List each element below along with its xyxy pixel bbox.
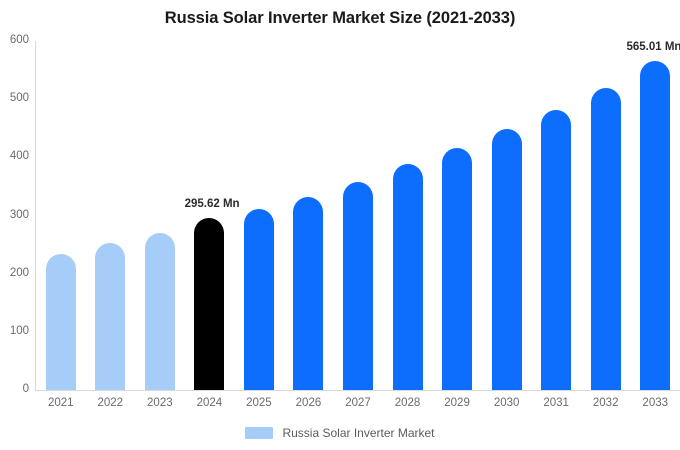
legend-swatch-icon: [245, 427, 273, 439]
bar-slot-2033: 565.01 Mn: [630, 41, 680, 390]
chart-legend: Russia Solar Inverter Market: [0, 426, 680, 440]
bar-slot-2029: [432, 41, 482, 390]
bar-2022[interactable]: [95, 243, 125, 390]
bar-value-label-2024: 295.62 Mn: [185, 199, 235, 211]
x-axis-tick-2023: 2023: [135, 398, 185, 410]
x-axis-line: [35, 390, 680, 391]
bar-2030[interactable]: [492, 129, 522, 390]
bar-chart: Russia Solar Inverter Market Size (2021-…: [0, 0, 680, 450]
bar-slot-2032: [581, 41, 631, 390]
y-axis-tick-300: 300: [0, 210, 29, 222]
y-axis-tick-labels: 0100200300400500600: [0, 0, 32, 450]
x-axis-tick-2026: 2026: [284, 398, 334, 410]
bars-container: 295.62 Mn565.01 Mn: [36, 41, 680, 390]
x-axis-tick-2025: 2025: [234, 398, 284, 410]
bar-2033[interactable]: [640, 61, 670, 390]
bar-2027[interactable]: [343, 182, 373, 390]
y-axis-tick-500: 500: [0, 93, 29, 105]
bar-slot-2027: [333, 41, 383, 390]
y-axis-tick-100: 100: [0, 326, 29, 338]
bar-slot-2026: [284, 41, 334, 390]
bar-slot-2031: [531, 41, 581, 390]
bar-2031[interactable]: [541, 110, 571, 390]
x-axis-tick-2024: 2024: [185, 398, 235, 410]
bar-value-label-2033: 565.01 Mn: [626, 42, 676, 54]
x-axis-tick-2027: 2027: [333, 398, 383, 410]
x-axis-tick-2021: 2021: [36, 398, 86, 410]
x-axis-tick-2033: 2033: [630, 398, 680, 410]
y-axis-tick-400: 400: [0, 151, 29, 163]
bar-slot-2025: [234, 41, 284, 390]
bar-2025[interactable]: [244, 209, 274, 390]
bar-2032[interactable]: [591, 88, 621, 390]
x-axis-tick-2029: 2029: [432, 398, 482, 410]
x-axis-tick-2032: 2032: [581, 398, 631, 410]
x-axis-tick-2022: 2022: [86, 398, 136, 410]
x-axis-tick-2030: 2030: [482, 398, 532, 410]
bar-2023[interactable]: [145, 233, 175, 390]
y-axis-tick-200: 200: [0, 268, 29, 280]
y-axis-tick-600: 600: [0, 35, 29, 47]
legend-label: Russia Solar Inverter Market: [282, 426, 434, 440]
bar-2024[interactable]: [194, 218, 224, 390]
bar-2028[interactable]: [393, 164, 423, 390]
bar-slot-2024: 295.62 Mn: [185, 41, 235, 390]
bar-slot-2028: [383, 41, 433, 390]
page-title: Russia Solar Inverter Market Size (2021-…: [0, 9, 680, 28]
bar-slot-2023: [135, 41, 185, 390]
y-axis-tick-0: 0: [0, 384, 29, 396]
x-axis-tick-2028: 2028: [383, 398, 433, 410]
bar-slot-2030: [482, 41, 532, 390]
bar-2026[interactable]: [293, 197, 323, 390]
bar-2029[interactable]: [442, 148, 472, 390]
bar-slot-2021: [36, 41, 86, 390]
bar-slot-2022: [86, 41, 136, 390]
x-axis-tick-2031: 2031: [531, 398, 581, 410]
bar-2021[interactable]: [46, 254, 76, 390]
